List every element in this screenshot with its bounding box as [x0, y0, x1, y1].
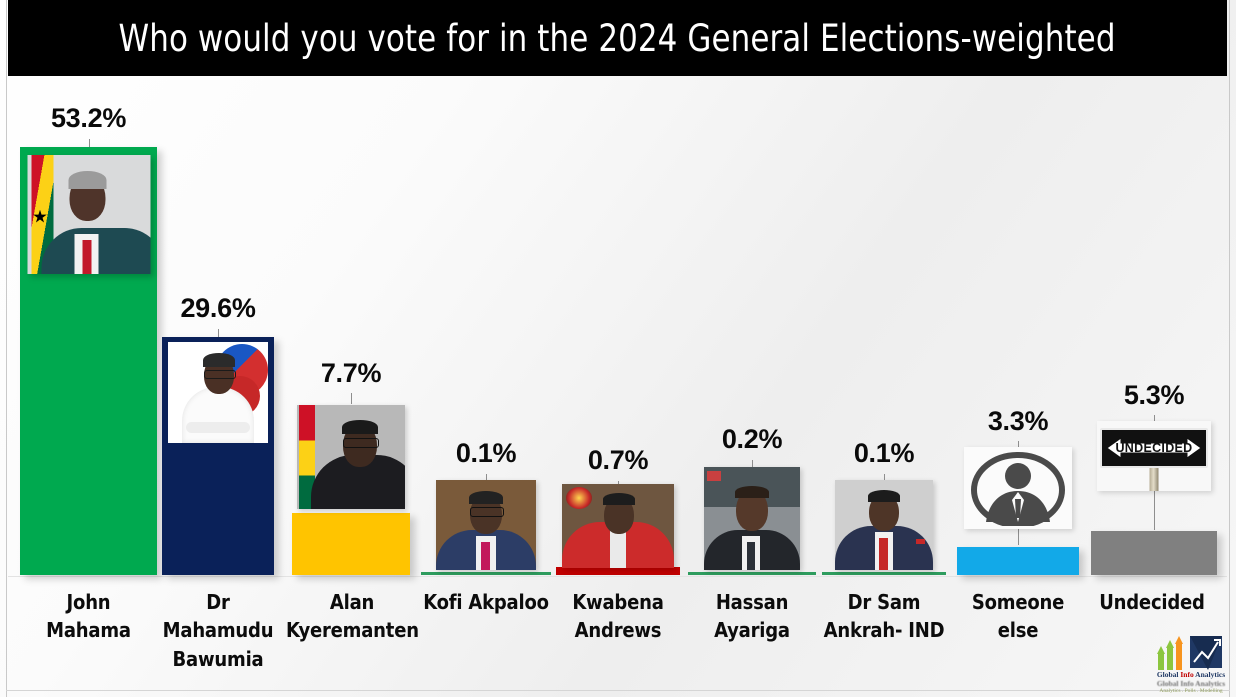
photo-alan-kyeremanten	[297, 405, 405, 509]
undecided-sign-plate: UNDECIDED	[1100, 428, 1208, 468]
logo-wordmark: Global Info Analytics	[1148, 670, 1234, 679]
category-label-line1: Hassan	[686, 588, 818, 616]
sign-undecided: UNDECIDED	[1097, 421, 1211, 491]
category-label-line3: Bawumia	[156, 645, 280, 673]
category-label-line1: John	[20, 588, 157, 616]
logo-mark-icon	[1156, 634, 1226, 672]
bar-sam-ankrah[interactable]	[822, 572, 946, 575]
bar-hassan-ayariga[interactable]	[688, 572, 816, 575]
bar-column-kwabena-andrews[interactable]: 0.7%	[556, 567, 680, 575]
value-label-hassan-ayariga: 0.2%	[722, 424, 782, 455]
person-silhouette-icon	[968, 450, 1068, 526]
category-label-line2: Andrews	[552, 616, 684, 644]
category-label-line1: Undecided	[1086, 588, 1218, 616]
logo-word-info: Info	[1180, 670, 1193, 679]
chart-title-banner: Who would you vote for in the 2024 Gener…	[8, 0, 1227, 76]
category-label-kofi-akpaloo: Kofi Akpaloo	[418, 588, 554, 616]
logo-word-analytics-ghost: Analytics	[1194, 679, 1225, 688]
category-label-line2: Ankrah- IND	[818, 616, 950, 644]
chart-baseline	[8, 576, 1227, 577]
category-label-hassan-ayariga: Hassan Ayariga	[686, 588, 818, 645]
value-label-kwabena-andrews: 0.7%	[588, 445, 648, 476]
value-label-undecided: 5.3%	[1124, 380, 1184, 411]
undecided-sign-text: UNDECIDED	[1102, 430, 1206, 466]
bar-column-undecided[interactable]: 5.3% UNDECIDED	[1091, 531, 1217, 575]
bar-column-mahamudu-bawumia[interactable]: 29.6%	[162, 337, 274, 575]
category-label-sam-ankrah: Dr Sam Ankrah- IND	[818, 588, 950, 645]
slide-right-border	[1229, 0, 1230, 697]
chart-title: Who would you vote for in the 2024 Gener…	[119, 17, 1116, 60]
logo-word-analytics: Analytics	[1194, 670, 1225, 679]
category-label-line2: Ayariga	[686, 616, 818, 644]
bar-column-john-mahama[interactable]: 53.2%	[20, 147, 157, 575]
bar-someone-else[interactable]	[957, 547, 1079, 575]
category-label-line2: else	[952, 616, 1084, 644]
slide-left-border	[6, 0, 7, 697]
bar-alan-kyeremanten[interactable]	[292, 513, 410, 575]
category-label-line1: Dr	[156, 588, 280, 616]
bar-column-alan-kyeremanten[interactable]: 7.7%	[292, 513, 410, 575]
logo-word-info-ghost: Info	[1180, 679, 1193, 688]
category-label-john-mahama: John Mahama	[20, 588, 157, 645]
category-label-mahamudu-bawumia: Dr Mahamudu Bawumia	[156, 588, 280, 673]
category-label-line2: Mahama	[20, 616, 157, 644]
category-label-line1: Someone	[952, 588, 1084, 616]
bar-column-kofi-akpaloo[interactable]: 0.1%	[421, 572, 551, 575]
category-label-undecided: Undecided	[1086, 588, 1218, 616]
category-label-line1: Alan	[286, 588, 418, 616]
photo-sam-ankrah	[835, 480, 933, 570]
logo-tagline: Analytics . Polls . Modelling	[1148, 688, 1234, 694]
category-label-kwabena-andrews: Kwabena Andrews	[552, 588, 684, 645]
category-label-line2: Mahamudu	[156, 616, 280, 644]
photo-john-mahama	[27, 155, 150, 274]
logo-word-global-ghost: Global	[1157, 679, 1181, 688]
category-label-line1: Kofi Akpaloo	[418, 588, 554, 616]
logo-wordmark-ghost: Global Info Analytics	[1148, 679, 1234, 688]
photo-mahamudu-bawumia	[168, 342, 268, 443]
photo-kofi-akpaloo	[436, 480, 536, 570]
value-label-kofi-akpaloo: 0.1%	[456, 438, 516, 469]
category-label-line2: Kyeremanten	[286, 616, 418, 644]
category-label-line1: Dr Sam	[818, 588, 950, 616]
value-label-alan-kyeremanten: 7.7%	[321, 358, 381, 389]
bar-column-someone-else[interactable]: 3.3%	[957, 547, 1079, 575]
logo-word-global: Global	[1157, 670, 1181, 679]
photo-kwabena-andrews	[562, 484, 674, 568]
category-label-line1: Kwabena	[552, 588, 684, 616]
category-label-alan-kyeremanten: Alan Kyeremanten	[286, 588, 418, 645]
bar-kwabena-andrews[interactable]	[556, 567, 680, 575]
value-label-mahamudu-bawumia: 29.6%	[180, 293, 255, 324]
poll-result-chart-slide: Who would you vote for in the 2024 Gener…	[0, 0, 1236, 697]
category-label-someone-else: Someone else	[952, 588, 1084, 645]
slide-bottom-border	[6, 690, 1230, 691]
bar-undecided[interactable]	[1091, 531, 1217, 575]
bar-column-hassan-ayariga[interactable]: 0.2%	[688, 572, 816, 575]
icon-generic-person	[964, 447, 1072, 529]
leader-line-alan-kyeremanten	[351, 393, 352, 404]
photo-hassan-ayariga	[704, 467, 800, 570]
bar-kofi-akpaloo[interactable]	[421, 572, 551, 575]
value-label-sam-ankrah: 0.1%	[854, 438, 914, 469]
global-info-analytics-logo: Global Info Analytics Global Info Analyt…	[1148, 634, 1234, 694]
bar-column-sam-ankrah[interactable]: 0.1%	[822, 572, 946, 575]
value-label-john-mahama: 53.2%	[51, 103, 126, 134]
value-label-someone-else: 3.3%	[988, 406, 1048, 437]
